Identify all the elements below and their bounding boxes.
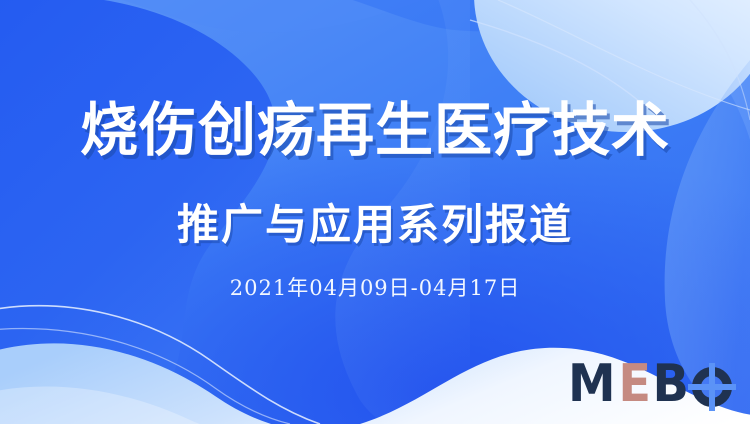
banner-content: 烧伤创疡再生医疗技术 推广与应用系列报道 2021年04月09日-04月17日 … [0,0,750,424]
page-subtitle: 推广与应用系列报道 [0,201,750,249]
logo-o-cross-horizontal [688,384,736,390]
logo-letter-m: M [568,358,615,410]
mebo-logo: M E B [566,358,732,410]
logo-letter-b: B [653,358,689,410]
page-title: 烧伤创疡再生医疗技术 [0,98,750,162]
date-range-text: 2021年04月09日-04月17日 [0,274,750,302]
logo-letter-e: E [618,358,650,410]
promo-banner: 烧伤创疡再生医疗技术 推广与应用系列报道 2021年04月09日-04月17日 … [0,0,750,424]
medical-cross-o-icon [692,367,732,407]
